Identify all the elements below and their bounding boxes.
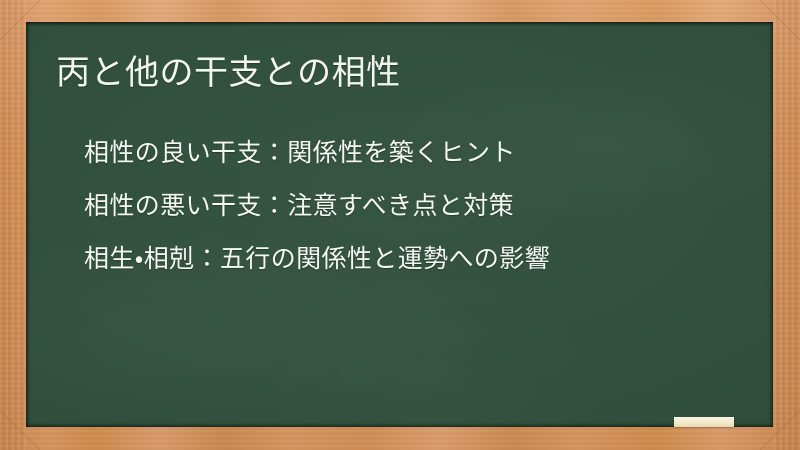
wood-grain-left <box>0 0 26 450</box>
page-title: 丙と他の干支との相性 <box>56 51 401 95</box>
chalkboard-slide: 丙と他の干支との相性 相性の良い干支：関係性を築くヒント 相性の悪い干支：注意す… <box>0 0 800 450</box>
list-item: 相生・相剋：五行の関係性と運勢への影響 <box>84 233 550 286</box>
wood-grain-right <box>774 0 800 450</box>
list-item: 相性の悪い干支：注意すべき点と対策 <box>84 180 550 233</box>
bullet-list: 相性の良い干支：関係性を築くヒント 相性の悪い干支：注意すべき点と対策 相生・相… <box>84 127 550 286</box>
list-item: 相性の良い干支：関係性を築くヒント <box>84 127 550 180</box>
chalk-stick-icon <box>674 417 734 427</box>
chalkboard-surface: 丙と他の干支との相性 相性の良い干支：関係性を築くヒント 相性の悪い干支：注意す… <box>26 22 773 427</box>
